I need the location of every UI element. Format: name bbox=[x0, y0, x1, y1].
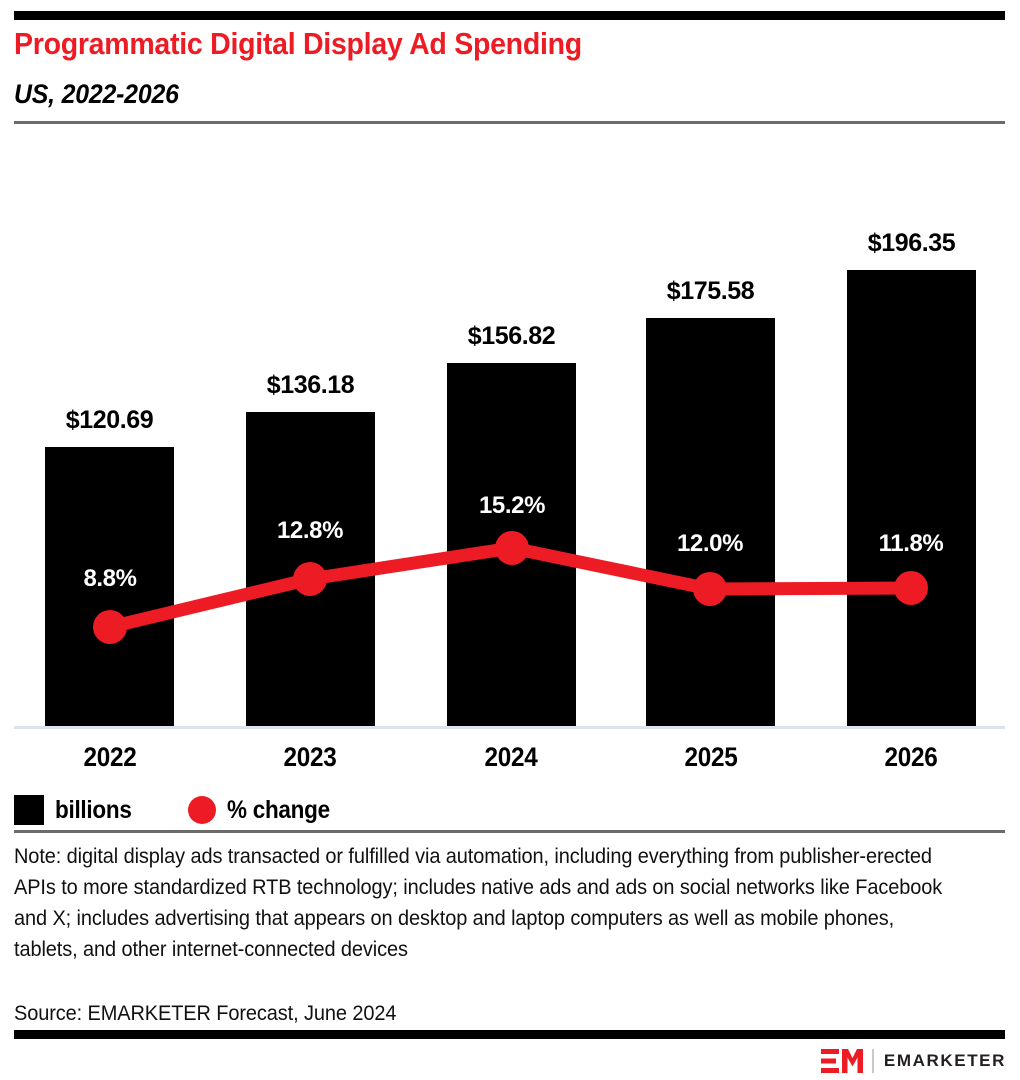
brand-name: EMARKETER bbox=[884, 1051, 1006, 1071]
chart-plot-area: $120.69$136.18$156.82$175.58$196.35 8.8%… bbox=[0, 0, 1020, 740]
legend-label: % change bbox=[227, 796, 330, 825]
legend-label: billions bbox=[55, 796, 132, 825]
em-mark-svg bbox=[821, 1049, 863, 1073]
x-axis-label-2023: 2023 bbox=[238, 742, 382, 773]
line-marker-2025 bbox=[693, 572, 727, 606]
chart-note: Note: digital display ads transacted or … bbox=[14, 841, 945, 965]
legend-item-change: % change bbox=[188, 793, 341, 827]
bar-value-label-2023: $136.18 bbox=[231, 371, 391, 400]
footer-divider-rule bbox=[14, 1030, 1005, 1039]
line-marker-2022 bbox=[93, 610, 127, 644]
bar-value-label-2025: $175.58 bbox=[631, 277, 791, 306]
chart-page: Programmatic Digital Display Ad Spending… bbox=[0, 0, 1020, 1080]
legend-item-billions: billions bbox=[14, 793, 140, 827]
x-axis-label-2025: 2025 bbox=[639, 742, 783, 773]
x-axis-label-2026: 2026 bbox=[839, 742, 983, 773]
x-axis-label-2024: 2024 bbox=[439, 742, 583, 773]
legend-square-icon bbox=[14, 795, 44, 825]
chart-source: Source: EMARKETER Forecast, June 2024 bbox=[14, 1000, 945, 1028]
x-axis-label-2022: 2022 bbox=[38, 742, 182, 773]
percent-change-label-2025: 12.0% bbox=[630, 530, 790, 558]
bar-value-label-2026: $196.35 bbox=[832, 229, 992, 258]
note-divider-rule bbox=[14, 830, 1005, 833]
percent-change-label-2022: 8.8% bbox=[30, 565, 190, 593]
brand-divider bbox=[872, 1049, 874, 1073]
emarketer-em-icon bbox=[821, 1049, 863, 1073]
percent-change-label-2023: 12.8% bbox=[230, 517, 390, 545]
percent-change-label-2024: 15.2% bbox=[432, 492, 592, 520]
percent-change-line-layer bbox=[0, 0, 1020, 740]
line-marker-2026 bbox=[894, 571, 928, 605]
line-marker-2023 bbox=[293, 562, 327, 596]
line-marker-2024 bbox=[495, 531, 529, 565]
brand-logo: EMARKETER bbox=[821, 1048, 1006, 1074]
legend-circle-icon bbox=[188, 796, 216, 824]
bar-value-label-2024: $156.82 bbox=[432, 322, 592, 351]
percent-change-label-2026: 11.8% bbox=[831, 530, 991, 558]
bar-value-label-2022: $120.69 bbox=[30, 406, 190, 435]
